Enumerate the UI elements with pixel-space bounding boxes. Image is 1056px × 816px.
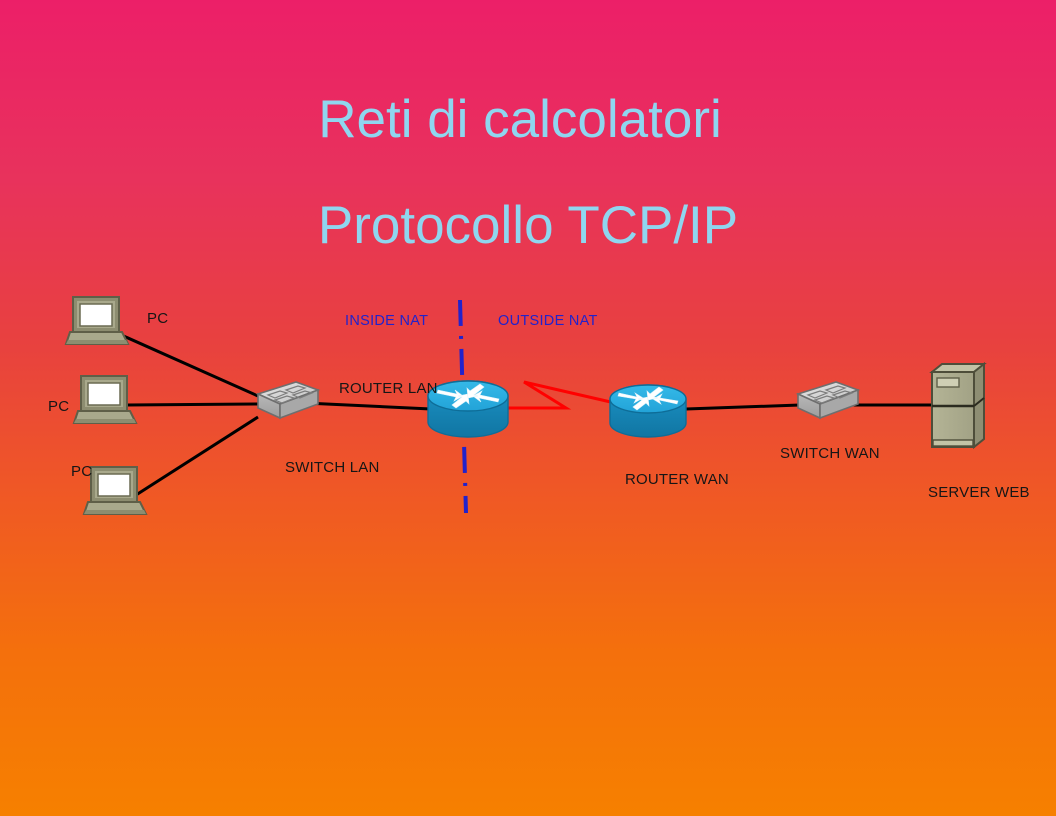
slide-canvas: Reti di calcolatori Protocollo TCP/IP [0,0,1056,816]
nat-outside-label: OUTSIDE NAT [498,313,598,329]
link-routerwan-switchwan [686,405,800,409]
node-label-router-lan: ROUTER LAN [339,380,438,397]
router-icon-wan [610,385,686,437]
laptop-icon-pc3 [84,467,146,514]
node-label-switch-lan: SWITCH LAN [285,459,380,476]
link-pc3-switch [136,417,258,495]
node-label-pc2: PC [48,398,69,415]
router-icon-lan [428,381,508,437]
switch-icon-wan [798,382,858,418]
nat-inside-label: INSIDE NAT [345,313,428,329]
node-label-router-wan: ROUTER WAN [625,471,729,488]
node-label-server-web: SERVER WEB [928,484,1030,501]
network-diagram [0,0,1056,816]
link-pc1-switch [119,334,258,396]
server-icon-web [932,364,984,447]
node-label-pc3: PC [71,463,92,480]
switch-icon-lan [258,382,318,418]
link-pc2-switch [127,404,258,405]
node-label-switch-wan: SWITCH WAN [780,445,880,462]
node-label-pc1: PC [147,310,168,327]
laptop-icon-pc1 [66,297,128,344]
laptop-icon-pc2 [74,376,136,423]
